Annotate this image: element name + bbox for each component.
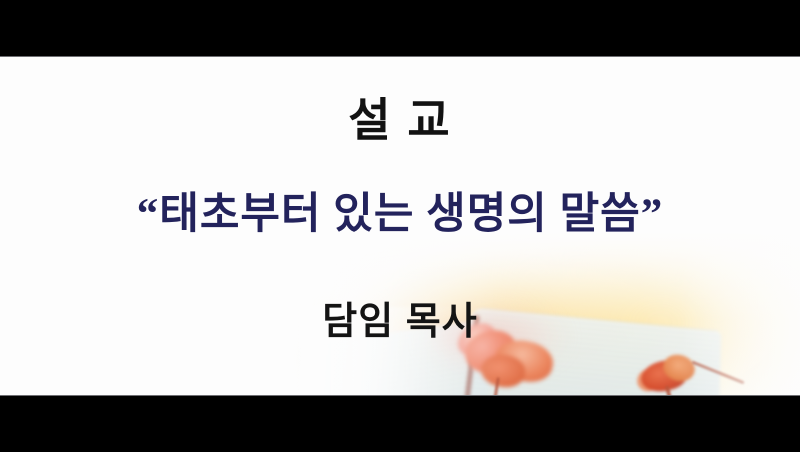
letterbox-edge-top [0, 56, 800, 57]
letterbox-bar-bottom [0, 396, 800, 452]
slide-text-layer: 설 교 “태초부터 있는 생명의 말씀” 담임 목사 [0, 57, 800, 395]
letterbox-bar-top [0, 0, 800, 56]
video-frame: 설 교 “태초부터 있는 생명의 말씀” 담임 목사 [0, 0, 800, 452]
letterbox-edge-bottom [0, 395, 800, 396]
presentation-slide: 설 교 “태초부터 있는 생명의 말씀” 담임 목사 [0, 57, 800, 395]
sermon-theme-text: “태초부터 있는 생명의 말씀” [0, 193, 800, 236]
speaker-title-text: 담임 목사 [0, 303, 800, 341]
slide-title: 설 교 [0, 97, 800, 143]
